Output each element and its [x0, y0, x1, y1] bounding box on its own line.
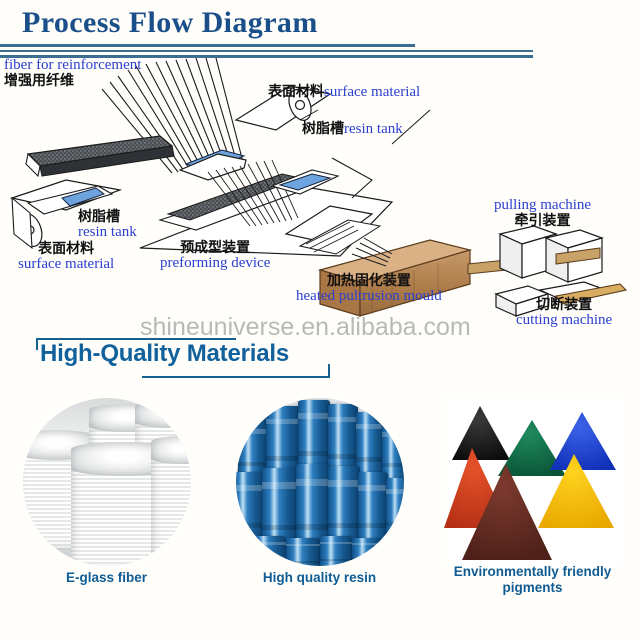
label-resin-tank-left: 树脂槽 resin tank	[78, 210, 137, 240]
process-flow-diagram: fiber for reinforcement 增强用纤维 表面材料surfac…	[0, 58, 640, 330]
material-item-e-glass-fiber: E-glass fiber	[0, 396, 213, 596]
caption-eco-pigments: Environmentally friendly pigments	[426, 564, 639, 596]
page-title: Process Flow Diagram	[22, 6, 318, 40]
bracket-bottom	[142, 376, 330, 378]
label-heated-pultrusion-mould: 加热固化装置 heated pultrusion mould	[296, 274, 442, 304]
material-item-high-quality-resin: High quality resin	[213, 396, 426, 596]
material-item-eco-pigments: Environmentally friendly pigments	[426, 396, 639, 596]
label-pulling-machine: pulling machine 牵引装置	[494, 198, 591, 228]
label-surface-material-top: 表面材料surface material	[268, 84, 420, 101]
title-rule-middle	[0, 50, 533, 52]
pigment-piles	[444, 398, 622, 566]
label-preforming-device: 预成型装置 preforming device	[160, 241, 270, 271]
product-detail-page: Process Flow Diagram	[0, 0, 640, 640]
section-high-quality-materials: High-Quality Materials	[14, 336, 334, 382]
bracket-left	[36, 338, 38, 350]
label-surface-material-left: 表面材料 surface material	[18, 242, 114, 272]
eco-pigments-photo	[444, 398, 622, 566]
label-cutting-machine: 切断装置 cutting machine	[516, 298, 612, 328]
materials-gallery: E-glass fiber	[0, 396, 640, 596]
e-glass-fiber-photo	[23, 398, 191, 566]
surface-material-rail-top	[26, 136, 174, 176]
bracket-right	[328, 364, 330, 378]
caption-high-quality-resin: High quality resin	[213, 570, 426, 586]
caption-e-glass-fiber: E-glass fiber	[0, 570, 213, 586]
title-rule-top	[0, 44, 415, 47]
label-resin-tank-top: 树脂槽resin tank	[302, 121, 403, 138]
section-title: High-Quality Materials	[40, 340, 289, 368]
high-quality-resin-photo	[236, 398, 404, 566]
label-fiber-reinforcement: fiber for reinforcement 增强用纤维	[4, 58, 141, 88]
